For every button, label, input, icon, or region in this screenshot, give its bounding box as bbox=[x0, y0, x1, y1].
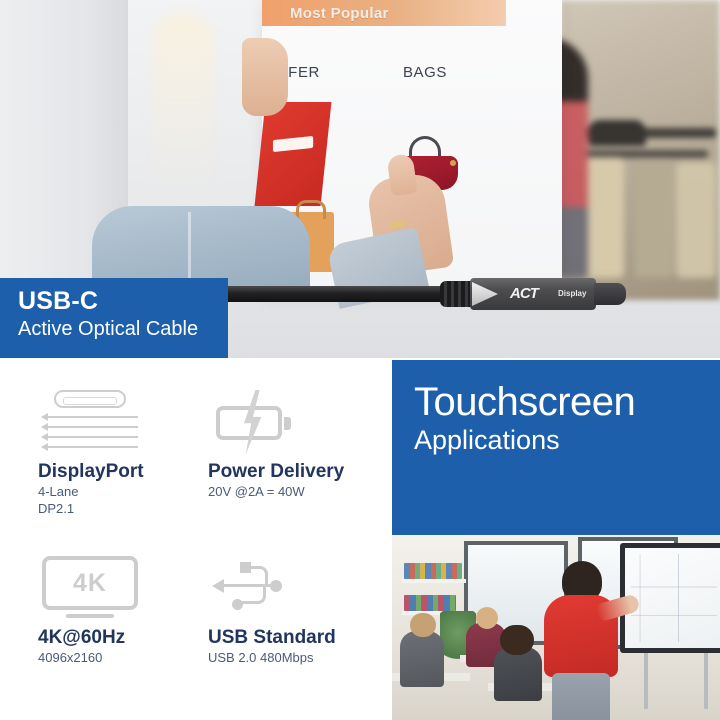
shopper-woman bbox=[96, 0, 296, 300]
product-title: USB-C bbox=[18, 288, 228, 315]
shelf-books bbox=[404, 563, 462, 579]
feature-power-delivery: Power Delivery 20V @2A = 40W bbox=[208, 388, 344, 500]
usb-round-end bbox=[270, 580, 282, 592]
feature-sub-2: DP2.1 bbox=[38, 501, 148, 517]
kiosk-bags-label: BAGS bbox=[380, 60, 470, 84]
shelf-books bbox=[404, 595, 456, 611]
lane-arrow bbox=[42, 416, 138, 418]
feature-title: 4K@60Hz bbox=[38, 628, 142, 649]
monitor-stand bbox=[66, 614, 114, 618]
feature-icon-wrap bbox=[208, 388, 344, 454]
usb-c-plug-head bbox=[594, 283, 626, 305]
touchscreen-applications-panel: Touchscreen Applications bbox=[392, 360, 720, 535]
kiosk-banner-label: Most Popular bbox=[290, 5, 389, 22]
student-jeans bbox=[552, 673, 610, 720]
feature-sub-1: 4-Lane bbox=[38, 484, 148, 500]
store-backroom bbox=[560, 0, 720, 300]
product-infographic: Most Popular OFFER BAGS BAG bbox=[0, 0, 720, 720]
feature-4k-resolution: 4K 4K@60Hz 4096x2160 bbox=[38, 554, 142, 666]
act-logo: ACT bbox=[510, 285, 538, 302]
usb-c-port-lanes-icon bbox=[38, 388, 148, 454]
student-at-whiteboard bbox=[544, 561, 618, 719]
connector-metal-tip bbox=[472, 282, 498, 306]
lane-arrow bbox=[42, 426, 138, 428]
clothing-rack-lower bbox=[578, 150, 708, 158]
feature-icon-wrap bbox=[208, 554, 336, 620]
woman-face bbox=[242, 38, 288, 116]
seated-student bbox=[494, 647, 542, 701]
handbag-clasp bbox=[450, 160, 456, 166]
feature-usb-standard: USB Standard USB 2.0 480Mbps bbox=[208, 554, 336, 666]
feature-icon-wrap bbox=[38, 388, 148, 454]
connector-display-label: Display bbox=[558, 289, 586, 298]
feature-grid: DisplayPort 4-Lane DP2.1 Power Delivery … bbox=[0, 358, 392, 720]
touchscreen-title: Touchscreen bbox=[414, 382, 720, 422]
feature-sub-1: 4096x2160 bbox=[38, 650, 142, 666]
monitor-4k-text: 4K bbox=[73, 569, 107, 598]
battery-terminal bbox=[284, 417, 291, 430]
woman-hair-highlight bbox=[152, 12, 214, 200]
monitor-4k-icon: 4K bbox=[38, 554, 142, 620]
feature-sub-1: USB 2.0 480Mbps bbox=[208, 650, 336, 666]
whiteboard-stand bbox=[644, 653, 708, 709]
touchscreen-subtitle: Applications bbox=[414, 426, 720, 456]
usb-round-end bbox=[232, 599, 243, 610]
battery-bolt-icon bbox=[208, 388, 300, 454]
seated-student bbox=[400, 631, 444, 687]
feature-sub-1: 20V @2A = 40W bbox=[208, 484, 344, 500]
hanging-garment bbox=[676, 162, 716, 278]
lane-arrow bbox=[42, 446, 138, 448]
wall-shelf bbox=[402, 579, 466, 583]
classroom-photo bbox=[392, 535, 720, 720]
kiosk-banner: Most Popular bbox=[262, 0, 506, 26]
hanging-coat bbox=[588, 120, 646, 146]
feature-title: DisplayPort bbox=[38, 462, 148, 483]
monitor-screen: 4K bbox=[42, 556, 138, 610]
product-name-banner: USB-C Active Optical Cable bbox=[0, 278, 228, 358]
whiteboard-diagram bbox=[631, 554, 717, 642]
usb-c-connector: ACT Display bbox=[470, 278, 596, 310]
feature-title: USB Standard bbox=[208, 628, 336, 649]
lane-arrow bbox=[42, 436, 138, 438]
feature-icon-wrap: 4K bbox=[38, 554, 142, 620]
usb-square-end bbox=[240, 562, 251, 573]
usb-trident-icon bbox=[208, 554, 292, 620]
finger-ring bbox=[390, 221, 407, 229]
feature-displayport: DisplayPort 4-Lane DP2.1 bbox=[38, 388, 148, 517]
product-subtitle: Active Optical Cable bbox=[18, 317, 228, 341]
hanging-garment bbox=[634, 160, 674, 278]
usb-arrow-head bbox=[212, 579, 224, 593]
usb-c-port-outline bbox=[54, 390, 126, 408]
feature-title: Power Delivery bbox=[208, 462, 344, 483]
